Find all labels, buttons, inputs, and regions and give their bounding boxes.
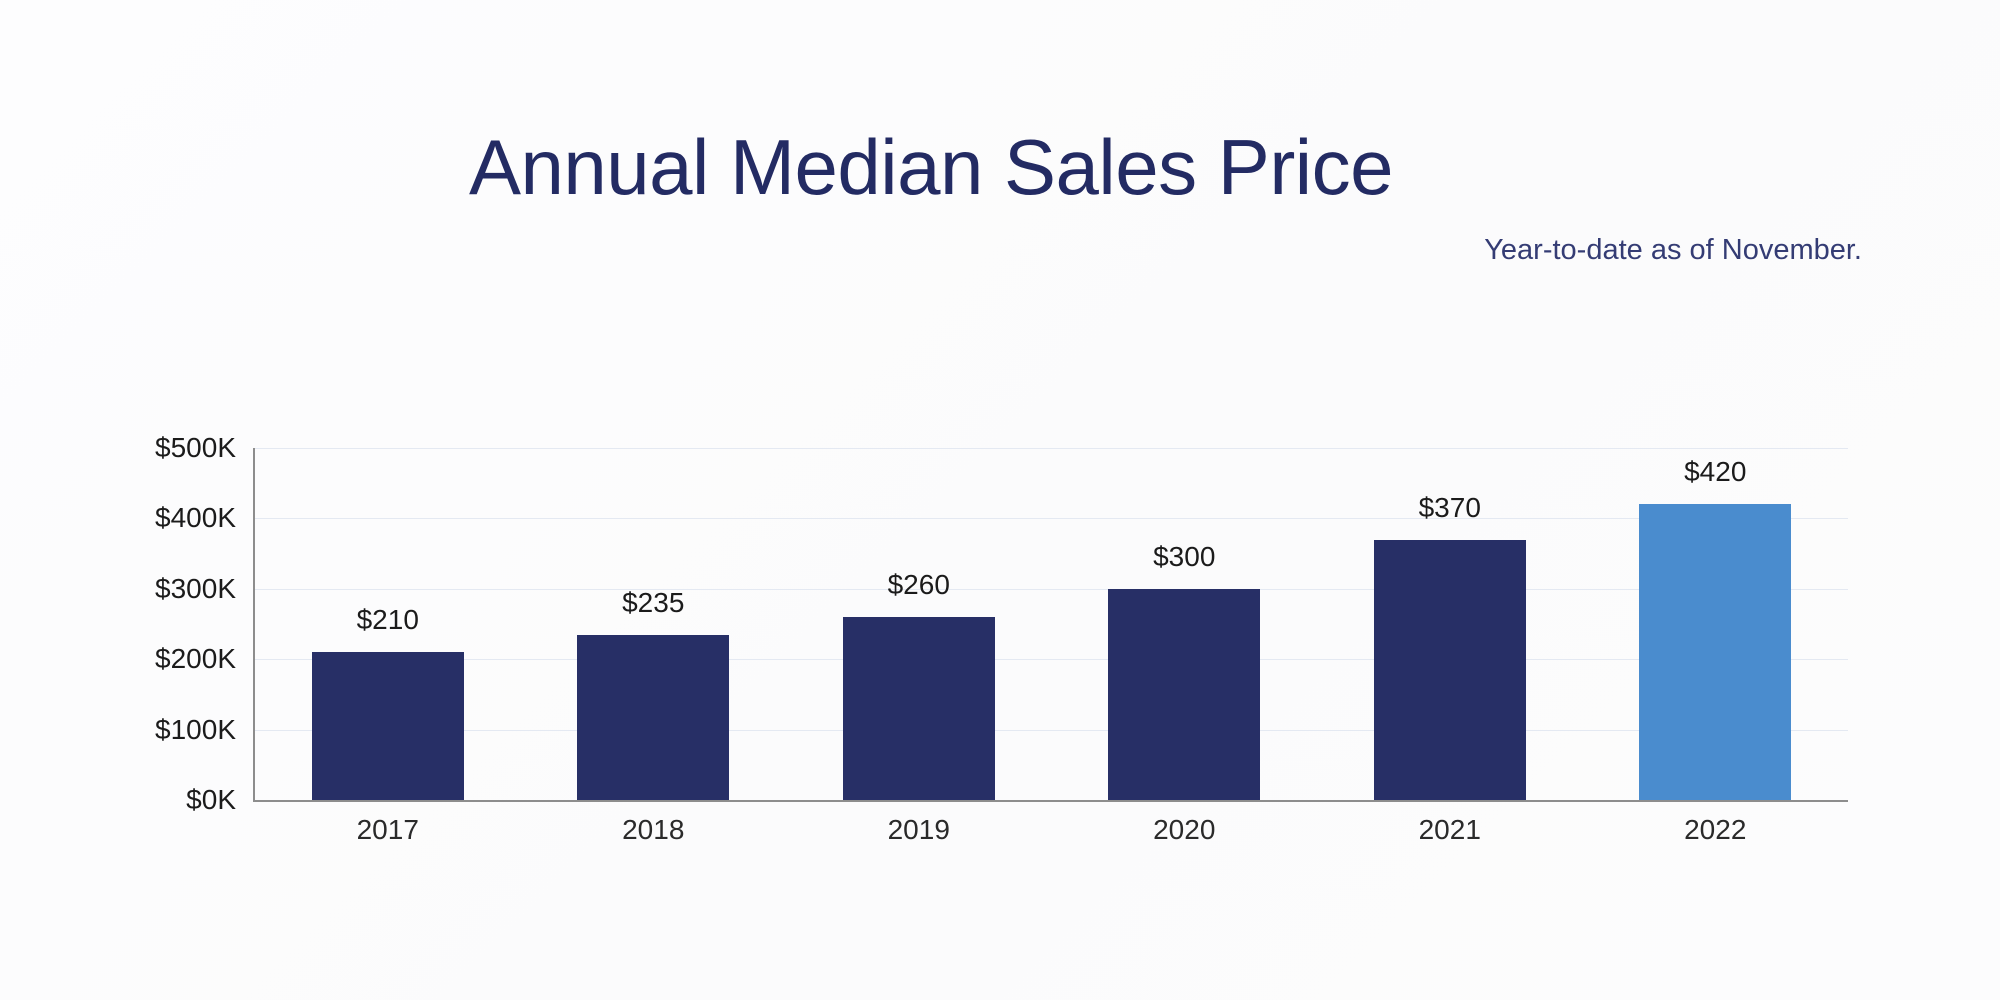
x-axis-tick-label-2020: 2020 <box>1153 816 1215 844</box>
bar-2022[interactable] <box>1639 504 1791 800</box>
bar-slot-2021: $3702021 <box>1317 448 1583 800</box>
y-axis-tick-label: $500K <box>155 434 236 462</box>
x-axis-tick-label-2017: 2017 <box>357 816 419 844</box>
bar-value-label-2019: $260 <box>888 571 950 599</box>
x-axis-tick-label-2019: 2019 <box>888 816 950 844</box>
bar-slot-2018: $2352018 <box>521 448 787 800</box>
page-title: Annual Median Sales Price <box>0 128 1862 206</box>
bar-slot-2020: $3002020 <box>1052 448 1318 800</box>
y-axis-tick-label: $0K <box>186 786 236 814</box>
bar-value-label-2021: $370 <box>1419 494 1481 522</box>
bar-2018[interactable] <box>577 635 729 800</box>
bar-value-label-2017: $210 <box>357 606 419 634</box>
y-axis-tick-label: $300K <box>155 575 236 603</box>
x-axis-line <box>253 800 1848 802</box>
bar-value-label-2022: $420 <box>1684 458 1746 486</box>
bar-chart-plot-area: $0K$100K$200K$300K$400K$500K $2102017$23… <box>255 448 1848 800</box>
y-axis-tick-label: $100K <box>155 716 236 744</box>
chart-header: Annual Median Sales Price Year-to-date a… <box>0 0 1862 265</box>
bar-2020[interactable] <box>1108 589 1260 800</box>
bar-2017[interactable] <box>312 652 464 800</box>
bar-slot-2017: $2102017 <box>255 448 521 800</box>
y-axis-tick-label: $200K <box>155 645 236 673</box>
bar-slot-2019: $2602019 <box>786 448 1052 800</box>
bar-value-label-2018: $235 <box>622 589 684 617</box>
x-axis-tick-label-2022: 2022 <box>1684 816 1746 844</box>
bar-2019[interactable] <box>843 617 995 800</box>
chart-card: Annual Median Sales Price Year-to-date a… <box>0 0 2000 1000</box>
x-axis-tick-label-2018: 2018 <box>622 816 684 844</box>
x-axis-tick-label-2021: 2021 <box>1419 816 1481 844</box>
chart-subtitle: Year-to-date as of November. <box>0 236 1862 265</box>
bar-value-label-2020: $300 <box>1153 543 1215 571</box>
y-axis-tick-label: $400K <box>155 504 236 532</box>
bar-slot-2022: $4202022 <box>1583 448 1849 800</box>
bar-2021[interactable] <box>1374 540 1526 800</box>
